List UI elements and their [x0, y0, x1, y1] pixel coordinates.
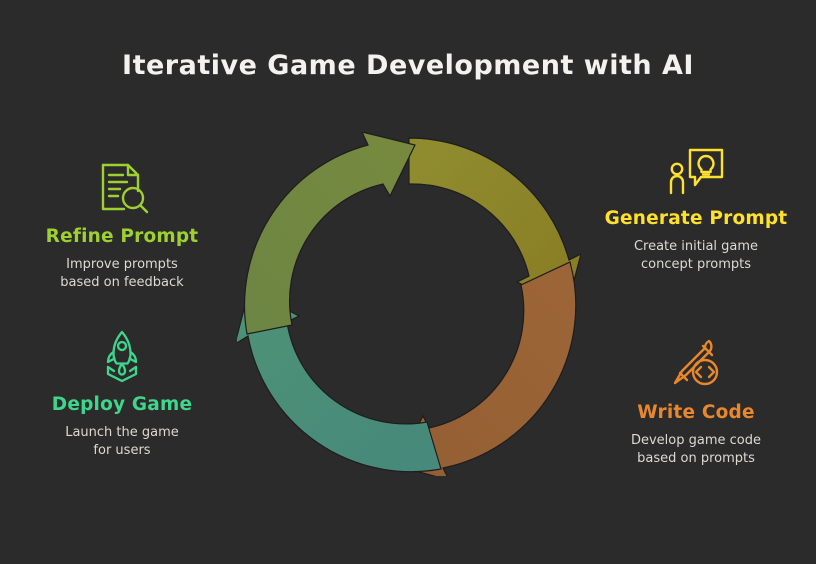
step-deploy-game[interactable]: Deploy Game Launch the game for users — [22, 326, 222, 461]
cycle-arrow-top-left — [245, 132, 415, 334]
step-refine-prompt[interactable]: Refine Prompt Improve prompts based on f… — [22, 158, 222, 293]
document-magnifier-icon — [22, 158, 222, 220]
step-title: Deploy Game — [22, 394, 222, 416]
step-title: Refine Prompt — [22, 226, 222, 248]
four-stage-cycle-diagram — [237, 132, 581, 476]
step-description: Launch the game for users — [22, 424, 222, 461]
step-description: Create initial game concept prompts — [596, 238, 796, 275]
step-generate-prompt[interactable]: Generate Prompt Create initial game conc… — [596, 140, 796, 275]
infographic-canvas: Iterative Game Development with AI — [0, 0, 816, 564]
step-title: Write Code — [596, 402, 796, 424]
person-speech-bubble-lightbulb-icon — [596, 140, 796, 202]
rocket-launch-icon — [22, 326, 222, 388]
step-write-code[interactable]: Write Code Develop game code based on pr… — [596, 334, 796, 469]
page-title: Iterative Game Development with AI — [0, 50, 816, 81]
step-description: Improve prompts based on feedback — [22, 256, 222, 293]
step-title: Generate Prompt — [596, 208, 796, 230]
step-description: Develop game code based on prompts — [596, 432, 796, 469]
pencil-code-icon — [596, 334, 796, 396]
